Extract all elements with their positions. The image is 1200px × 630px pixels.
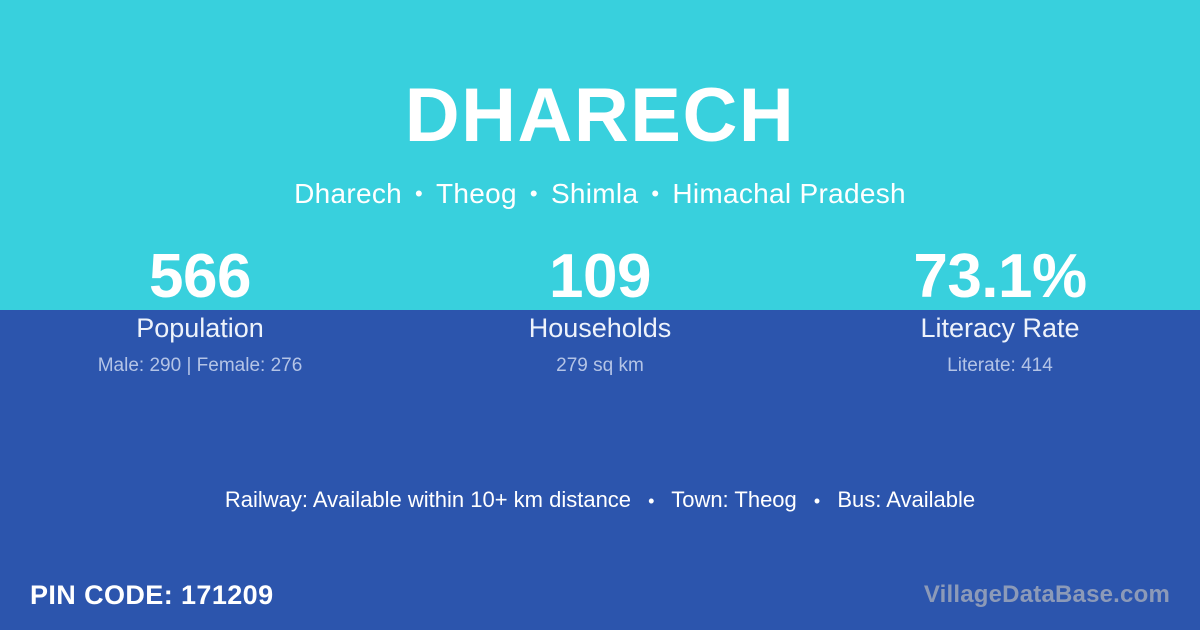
breadcrumb-item-block: Theog bbox=[436, 178, 517, 210]
breadcrumb-separator: • bbox=[402, 183, 436, 205]
page-title: DHARECH bbox=[405, 78, 796, 154]
stat-households: 109 Households 279 sq km bbox=[400, 244, 800, 384]
breadcrumb-item-village: Dharech bbox=[294, 178, 402, 210]
breadcrumb-item-state: Himachal Pradesh bbox=[672, 178, 906, 210]
amenity-town: Town: Theog bbox=[671, 487, 797, 512]
village-info-card: DHARECH Dharech • Theog • Shimla • Himac… bbox=[0, 0, 1200, 630]
stat-value: 566 bbox=[149, 244, 251, 310]
card-header: DHARECH Dharech • Theog • Shimla • Himac… bbox=[0, 0, 1200, 230]
stat-value: 109 bbox=[549, 244, 651, 310]
card-footer: PIN CODE: 171209 VillageDataBase.com bbox=[0, 560, 1200, 630]
breadcrumb: Dharech • Theog • Shimla • Himachal Prad… bbox=[294, 178, 906, 210]
stat-value: 73.1% bbox=[913, 244, 1086, 310]
stat-literacy-rate: 73.1% Literacy Rate Literate: 414 bbox=[800, 244, 1200, 384]
stat-label: Literacy Rate bbox=[920, 311, 1079, 345]
site-brand-watermark: VillageDataBase.com bbox=[924, 581, 1170, 609]
breadcrumb-separator: • bbox=[638, 183, 672, 205]
breadcrumb-separator: • bbox=[517, 183, 551, 205]
amenities-line: Railway: Available within 10+ km distanc… bbox=[0, 485, 1200, 516]
stat-sublabel: Literate: 414 bbox=[947, 353, 1053, 379]
stat-sublabel: 279 sq km bbox=[556, 353, 644, 379]
amenity-separator: • bbox=[803, 491, 831, 511]
amenity-bus: Bus: Available bbox=[837, 487, 975, 512]
stat-sublabel: Male: 290 | Female: 276 bbox=[98, 353, 303, 379]
stat-population: 566 Population Male: 290 | Female: 276 bbox=[0, 244, 400, 384]
stat-label: Households bbox=[529, 311, 672, 345]
pin-code-label: PIN CODE: 171209 bbox=[30, 580, 274, 611]
stats-row: 566 Population Male: 290 | Female: 276 1… bbox=[0, 244, 1200, 384]
breadcrumb-item-district: Shimla bbox=[551, 178, 638, 210]
stat-label: Population bbox=[136, 311, 264, 345]
amenity-railway: Railway: Available within 10+ km distanc… bbox=[225, 487, 631, 512]
amenity-separator: • bbox=[637, 491, 665, 511]
